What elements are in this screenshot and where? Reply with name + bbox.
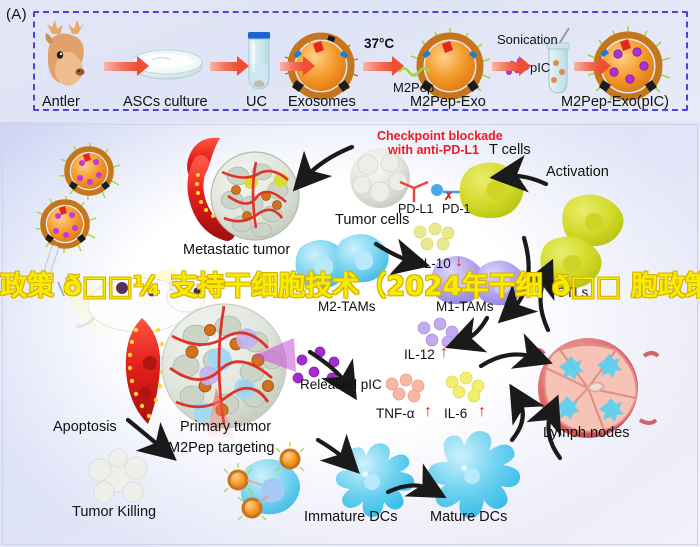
label-checkpoint-line1: Checkpoint blockade [377, 129, 503, 143]
label-apoptosis: Apoptosis [53, 419, 117, 435]
label-il-10: IL-10 [420, 256, 451, 271]
arrow-exosomes-to-m2pep [363, 62, 393, 71]
arrow-antler-to-asc [104, 62, 138, 71]
label-il-12: IL-12 [404, 347, 435, 362]
label-m2pep-targeting: M2Pep targeting [168, 440, 274, 456]
tnf-alpha-up-arrow: ↑ [424, 404, 432, 420]
label-tumor-killing: Tumor Killing [72, 504, 156, 520]
figure-root: (A) (B) [0, 0, 700, 547]
label-pic: pIC [530, 60, 550, 75]
label-m2pep-exo-pic: M2Pep-Exo(pIC) [561, 94, 669, 110]
label-ascs-culture: ASCs culture [123, 94, 208, 110]
label-mature-dcs: Mature DCs [430, 509, 507, 525]
label-t-cells: T cells [489, 142, 531, 158]
label-primary-tumor: Primary tumor [180, 419, 271, 435]
label-sonication: Sonication [497, 32, 558, 47]
label-immature-dcs: Immature DCs [304, 509, 397, 525]
label-il-6: IL-6 [444, 406, 467, 421]
arrow-uc-to-exosomes [280, 62, 304, 71]
label-released-pic: Released pIC [300, 377, 382, 392]
label-pd-l1: PD-L1 [398, 202, 433, 216]
label-pd-1: PD-1 [442, 202, 470, 216]
label-metastatic-tumor: Metastatic tumor [183, 242, 290, 258]
label-uc: UC [246, 94, 267, 110]
label-m1-tams: M1-TAMs [436, 299, 494, 314]
label-exosomes: Exosomes [288, 94, 356, 110]
label-antler: Antler [42, 94, 80, 110]
arrow-asc-to-uc [210, 62, 238, 71]
il-6-up-arrow: ↑ [478, 404, 486, 420]
label-temperature: 37°C [364, 36, 394, 51]
label-m2pep-exo: M2Pep-Exo [410, 94, 486, 110]
label-checkpoint-line2: with anti-PD-L1 [388, 143, 479, 157]
arrow-m2pep-to-sonication [492, 62, 520, 71]
il-12-up-arrow: ↑ [440, 345, 448, 361]
label-tnf-alpha: TNF-α [376, 406, 415, 421]
panel-b [0, 122, 700, 547]
label-m2pep: M2Pep [393, 80, 434, 95]
label-activation: Activation [546, 164, 609, 180]
label-ctls: CTLs [556, 285, 588, 300]
label-m2-tams: M2-TAMs [318, 299, 376, 314]
label-lymph-nodes: Lymph nodes [543, 425, 630, 441]
panel-a-letter: (A) [6, 6, 27, 23]
arrow-sonication-to-pic-exo [574, 62, 600, 71]
il-10-down-arrow: ↓ [455, 254, 463, 270]
